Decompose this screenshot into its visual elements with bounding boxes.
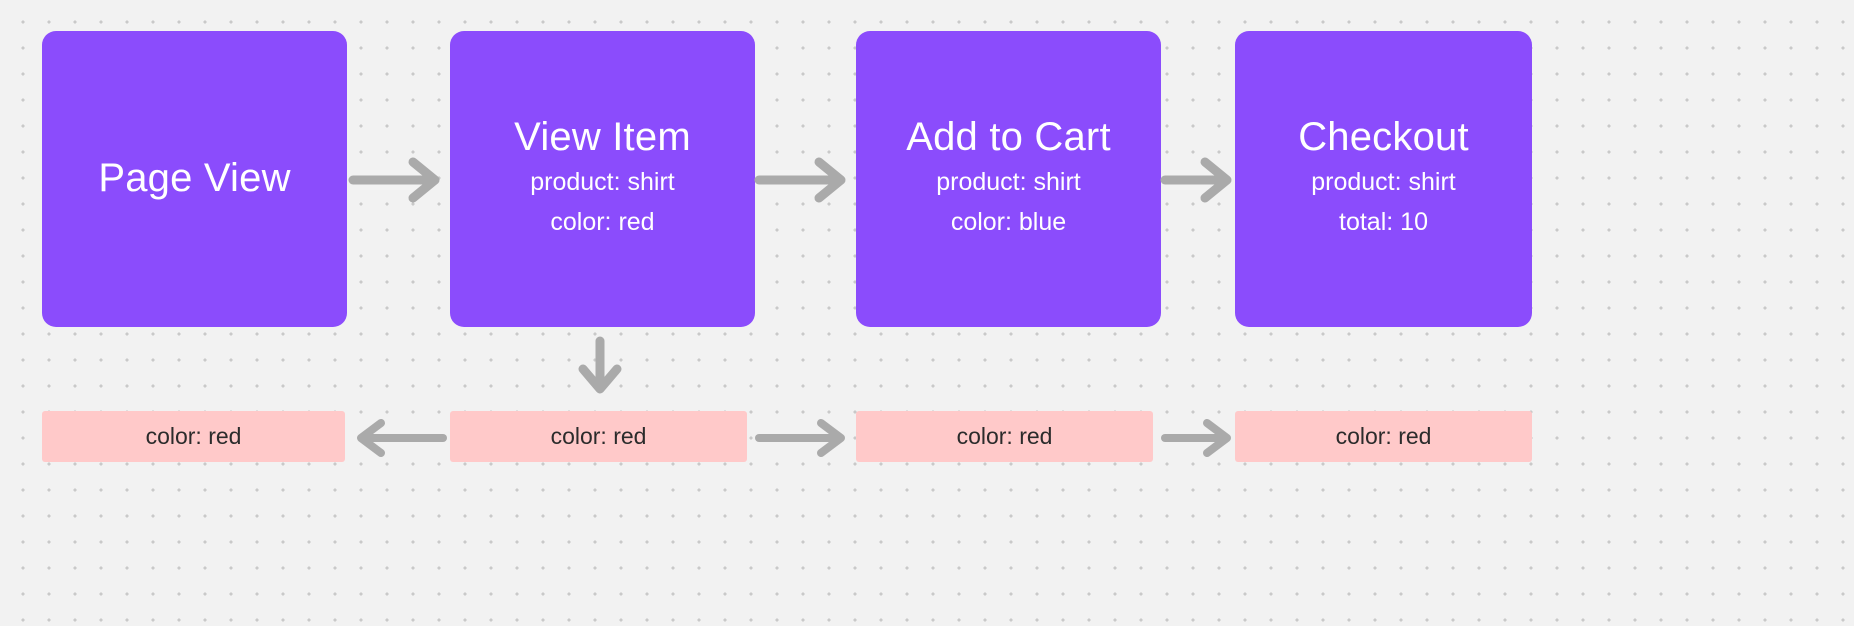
event-node-title: Checkout <box>1298 115 1469 160</box>
arrow-right-icon <box>757 421 852 455</box>
event-node-checkout[interactable]: Checkout product: shirt total: 10 <box>1235 31 1532 327</box>
event-node-title: Add to Cart <box>906 115 1111 160</box>
event-node-property: product: shirt <box>936 162 1081 203</box>
event-node-page-view[interactable]: Page View <box>42 31 347 327</box>
arrow-down-icon <box>578 339 622 395</box>
event-node-property: color: red <box>530 202 675 243</box>
property-node-label: color: red <box>146 423 242 450</box>
arrow-right-icon <box>757 158 849 202</box>
property-node-label: color: red <box>1336 423 1432 450</box>
event-node-property: color: blue <box>936 202 1081 243</box>
property-node-label: color: red <box>957 423 1053 450</box>
arrow-right-icon <box>1163 421 1235 455</box>
arrow-right-icon <box>351 158 443 202</box>
arrow-right-icon <box>1163 158 1235 202</box>
property-node[interactable]: color: red <box>42 411 345 462</box>
arrow-left-icon <box>350 421 445 455</box>
property-node[interactable]: color: red <box>1235 411 1532 462</box>
event-node-title: View Item <box>514 115 691 160</box>
event-node-properties: product: shirt total: 10 <box>1311 162 1456 243</box>
event-node-property: product: shirt <box>1311 162 1456 203</box>
event-node-properties: product: shirt color: blue <box>936 162 1081 243</box>
property-node[interactable]: color: red <box>450 411 747 462</box>
event-node-property: total: 10 <box>1311 202 1456 243</box>
flow-diagram-canvas[interactable]: Page View View Item product: shirt color… <box>0 0 1854 626</box>
event-node-properties: product: shirt color: red <box>530 162 675 243</box>
property-node[interactable]: color: red <box>856 411 1153 462</box>
event-node-property: product: shirt <box>530 162 675 203</box>
event-node-add-to-cart[interactable]: Add to Cart product: shirt color: blue <box>856 31 1161 327</box>
property-node-label: color: red <box>551 423 647 450</box>
event-node-title: Page View <box>98 156 290 201</box>
event-node-view-item[interactable]: View Item product: shirt color: red <box>450 31 755 327</box>
